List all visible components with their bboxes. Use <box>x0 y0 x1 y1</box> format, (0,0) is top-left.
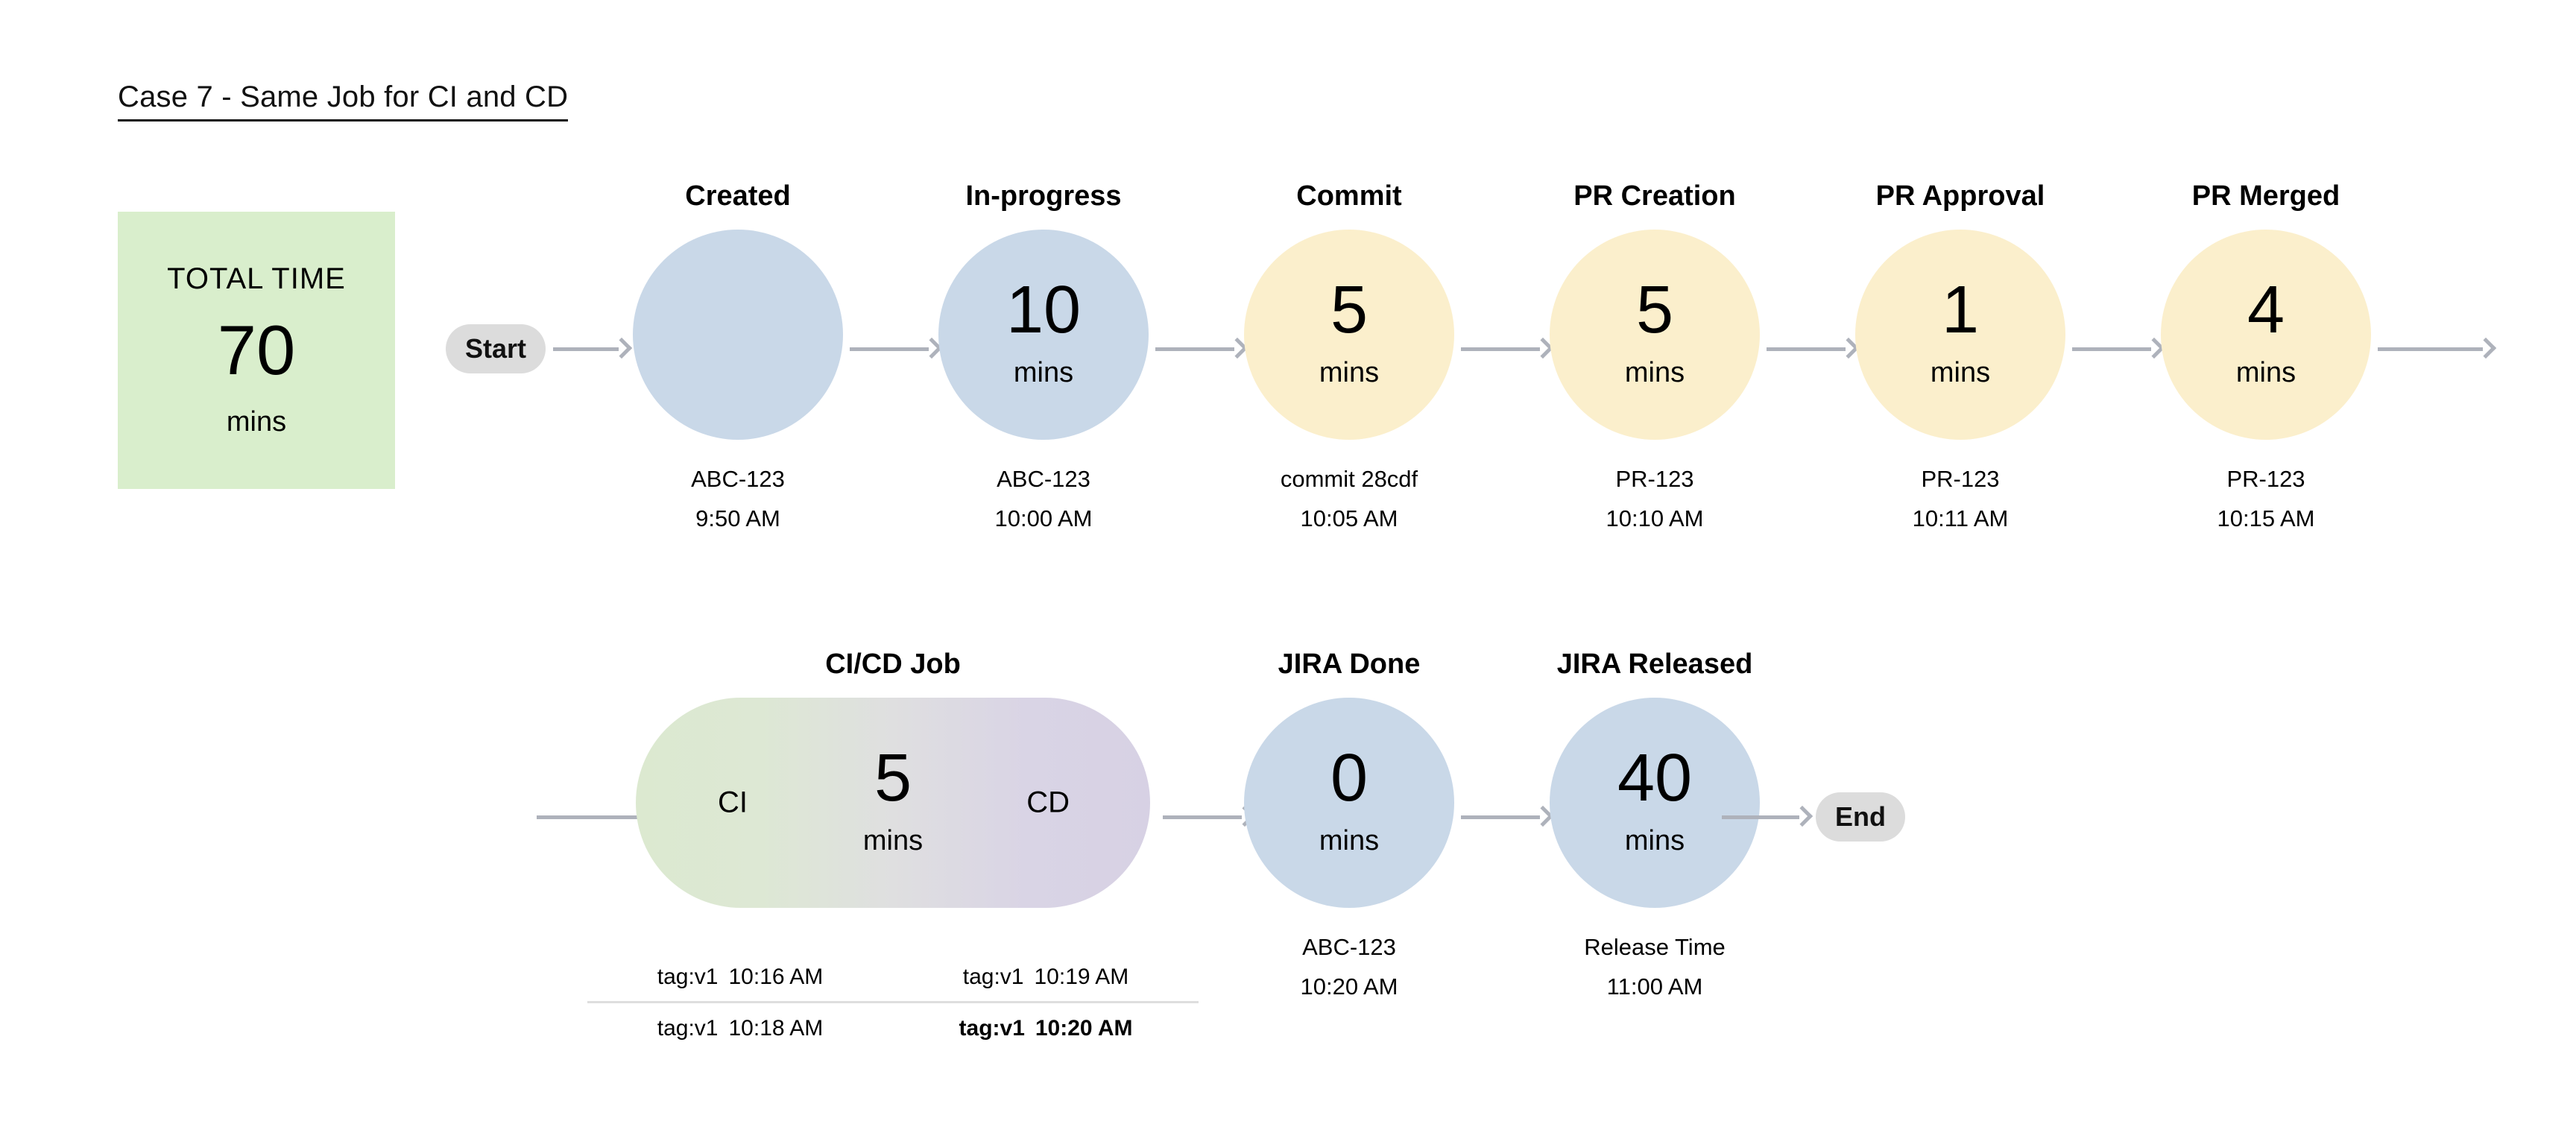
stage-unit: mins <box>1014 357 1073 389</box>
tag-time: 10:20 AM <box>1035 1016 1133 1041</box>
stage-meta-id: ABC-123 <box>691 459 785 499</box>
stage-bubble: 4 mins <box>2161 230 2371 440</box>
stage-meta: ABC-123 10:00 AM <box>995 459 1093 538</box>
tag-name: tag:v1 <box>959 1016 1025 1041</box>
arrow-row2-enter <box>537 806 648 828</box>
stage-pr-merged[interactable]: PR Merged 4 mins PR-123 10:15 AM <box>2117 179 2415 538</box>
tag-row: tag:v1 10:18 AM tag:v1 10:20 AM <box>587 1003 1199 1054</box>
tag-time: 10:16 AM <box>728 965 823 990</box>
stage-bubble: 40 mins <box>1550 698 1760 908</box>
stage-meta: commit 28cdf 10:05 AM <box>1281 459 1418 538</box>
tag-name: tag:v1 <box>657 1016 719 1041</box>
stage-meta-id: PR-123 <box>1913 459 2009 499</box>
stage-meta-time: 10:11 AM <box>1913 499 2009 538</box>
stage-label: Created <box>685 179 791 213</box>
stage-pr-approval[interactable]: PR Approval 1 mins PR-123 10:11 AM <box>1811 179 2109 538</box>
stage-unit: mins <box>1319 825 1379 857</box>
stage-unit: mins <box>863 825 923 857</box>
stage-bubble <box>633 230 843 440</box>
stage-cicd-job[interactable]: CI/CD Job CI 5 mins CD <box>636 647 1150 908</box>
stage-label: PR Creation <box>1573 179 1735 213</box>
stage-meta-time: 10:00 AM <box>995 499 1093 538</box>
stage-meta-id: PR-123 <box>1606 459 1704 499</box>
cicd-pill: CI 5 mins CD <box>636 698 1150 908</box>
arrow-row1-continue <box>2378 338 2493 360</box>
stage-value: 1 <box>1942 280 1979 341</box>
tag-cell: tag:v1 10:18 AM <box>587 1016 893 1041</box>
stage-meta-id: Release Time <box>1584 927 1726 967</box>
stage-value: 40 <box>1617 748 1692 809</box>
stage-meta-time: 9:50 AM <box>691 499 785 538</box>
stage-meta-time: 10:05 AM <box>1281 499 1418 538</box>
tag-time: 10:18 AM <box>728 1016 823 1041</box>
stage-bubble: 1 mins <box>1855 230 2065 440</box>
stage-value: 10 <box>1006 280 1081 341</box>
stage-meta-id: PR-123 <box>2217 459 2315 499</box>
stage-meta-time: 10:15 AM <box>2217 499 2315 538</box>
tag-name: tag:v1 <box>963 965 1024 990</box>
stage-unit: mins <box>1625 825 1685 857</box>
page-title: Case 7 - Same Job for CI and CD <box>118 80 568 121</box>
tag-cell: tag:v1 10:16 AM <box>587 965 893 990</box>
tag-cell: tag:v1 10:20 AM <box>893 1016 1199 1041</box>
arrow-shaft <box>2378 347 2483 351</box>
stage-in-progress[interactable]: In-progress 10 mins ABC-123 10:00 AM <box>894 179 1193 538</box>
stage-jira-done[interactable]: JIRA Done 0 mins ABC-123 10:20 AM <box>1200 647 1498 1006</box>
stage-unit: mins <box>1625 357 1685 389</box>
stage-meta: Release Time 11:00 AM <box>1584 927 1726 1006</box>
stage-value: 5 <box>874 748 912 809</box>
stage-created[interactable]: Created ABC-123 9:50 AM <box>589 179 887 538</box>
stage-label: In-progress <box>965 179 1121 213</box>
stage-meta: PR-123 10:15 AM <box>2217 459 2315 538</box>
tag-row: tag:v1 10:16 AM tag:v1 10:19 AM <box>587 953 1199 1003</box>
arrow-jira-released-to-end <box>1722 806 1810 828</box>
stage-label: Commit <box>1296 179 1401 213</box>
end-badge: End <box>1816 792 1905 842</box>
stage-label: PR Merged <box>2192 179 2340 213</box>
stage-meta: ABC-123 9:50 AM <box>691 459 785 538</box>
total-time-unit: mins <box>227 406 286 438</box>
stage-label: CI/CD Job <box>825 647 961 681</box>
stage-meta-time: 10:10 AM <box>1606 499 1704 538</box>
stage-meta: ABC-123 10:20 AM <box>1301 927 1398 1006</box>
stage-meta-id: commit 28cdf <box>1281 459 1418 499</box>
cicd-cd-label: CD <box>1026 786 1070 820</box>
stage-bubble: 0 mins <box>1244 698 1454 908</box>
stage-meta-time: 10:20 AM <box>1301 967 1398 1006</box>
stage-label: JIRA Released <box>1557 647 1753 681</box>
arrow-head-icon <box>2475 338 2496 359</box>
stage-value: 0 <box>1330 748 1368 809</box>
stage-unit: mins <box>1319 357 1379 389</box>
stage-pr-creation[interactable]: PR Creation 5 mins PR-123 10:10 AM <box>1506 179 1804 538</box>
stage-unit: mins <box>1931 357 1990 389</box>
total-time-label: TOTAL TIME <box>167 262 346 296</box>
stage-meta: PR-123 10:11 AM <box>1913 459 2009 538</box>
stage-value: 4 <box>2247 280 2285 341</box>
cicd-duration: 5 mins <box>863 748 923 857</box>
total-time-card: TOTAL TIME 70 mins <box>118 212 395 489</box>
stage-value: 5 <box>1330 280 1368 341</box>
stage-meta-id: ABC-123 <box>995 459 1093 499</box>
tag-time: 10:19 AM <box>1034 965 1128 990</box>
stage-bubble: 5 mins <box>1244 230 1454 440</box>
stage-value: 5 <box>1636 280 1673 341</box>
stage-bubble: 10 mins <box>938 230 1149 440</box>
stage-commit[interactable]: Commit 5 mins commit 28cdf 10:05 AM <box>1200 179 1498 538</box>
stage-bubble: 5 mins <box>1550 230 1760 440</box>
cicd-tag-table: tag:v1 10:16 AM tag:v1 10:19 AM tag:v1 1… <box>587 953 1199 1054</box>
stage-meta: PR-123 10:10 AM <box>1606 459 1704 538</box>
stage-unit: mins <box>2236 357 2296 389</box>
stage-label: JIRA Done <box>1278 647 1421 681</box>
total-time-value: 70 <box>218 317 296 383</box>
stage-label: PR Approval <box>1876 179 2045 213</box>
stage-meta-time: 11:00 AM <box>1584 967 1726 1006</box>
start-badge: Start <box>446 324 546 373</box>
arrow-head-icon <box>1792 806 1813 827</box>
stage-meta-id: ABC-123 <box>1301 927 1398 967</box>
cicd-ci-label: CI <box>718 786 748 820</box>
tag-cell: tag:v1 10:19 AM <box>893 965 1199 990</box>
tag-name: tag:v1 <box>657 965 719 990</box>
arrow-shaft <box>1722 815 1799 819</box>
arrow-shaft <box>537 815 638 819</box>
